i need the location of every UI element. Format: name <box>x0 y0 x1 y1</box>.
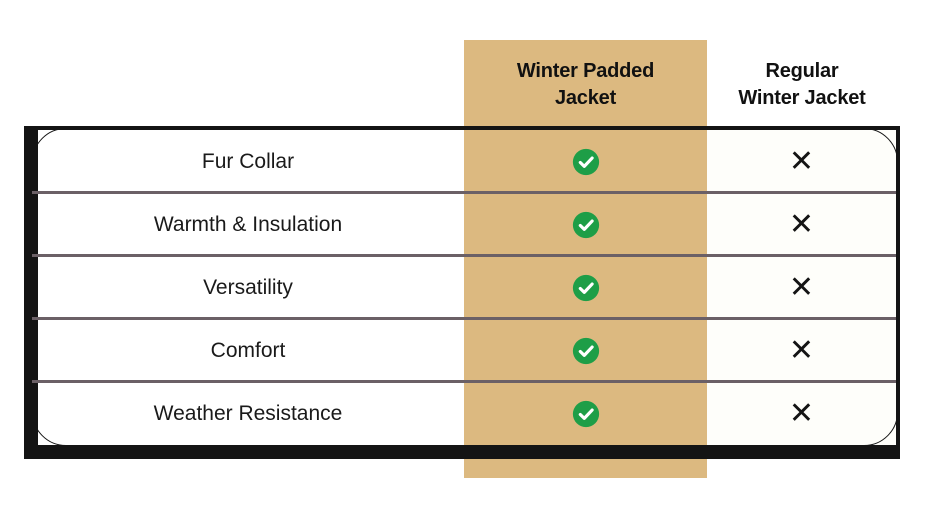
column-header-line-2: Winter Jacket <box>707 85 897 112</box>
row-dividers <box>32 130 896 445</box>
column-header-winter-padded-jacket: Winter Padded Jacket <box>464 58 707 112</box>
column-header-line-1: Winter Padded <box>464 58 707 85</box>
column-header-regular-winter-jacket: Regular Winter Jacket <box>707 58 897 112</box>
frame-bottom-edge <box>24 445 900 459</box>
column-header-line-1: Regular <box>707 58 897 85</box>
row-divider <box>32 380 896 383</box>
frame-right-edge <box>896 126 900 459</box>
column-header-line-2: Jacket <box>464 85 707 112</box>
row-divider <box>32 254 896 257</box>
comparison-table-stage: Winter Padded Jacket Regular Winter Jack… <box>0 0 928 506</box>
row-divider <box>32 317 896 320</box>
row-divider <box>32 191 896 194</box>
